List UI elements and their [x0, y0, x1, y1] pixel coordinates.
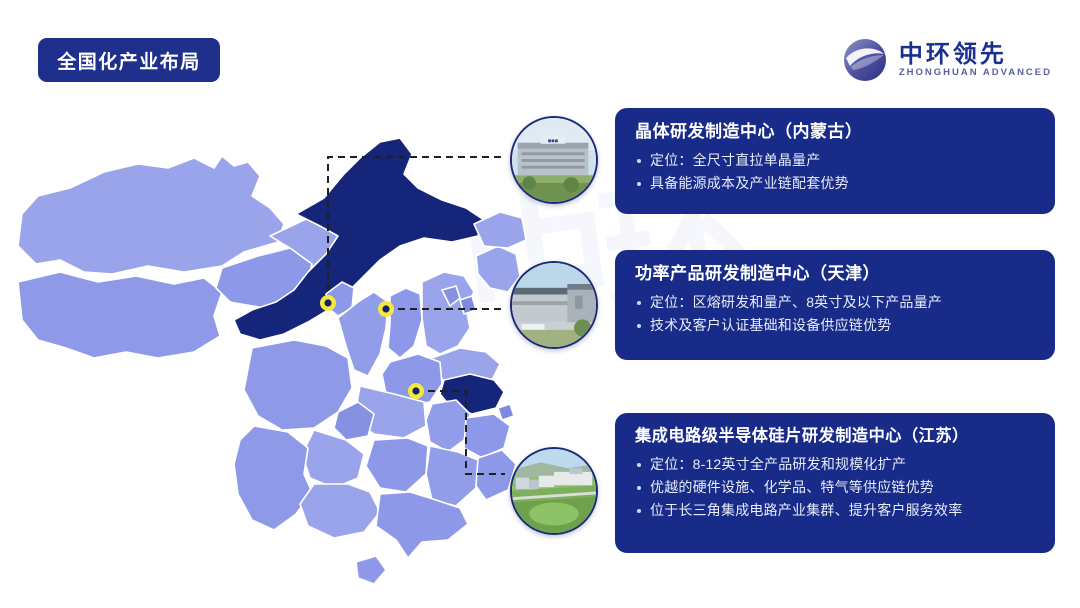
list-item: 定位：全尺寸直拉单晶量产: [635, 149, 1037, 172]
card-bullets: 定位：区熔研发和量产、8英寸及以下产品量产 技术及客户认证基础和设备供应链优势: [635, 291, 1037, 336]
list-item: 定位：8-12英寸全产品研发和规模化扩产: [635, 453, 1037, 476]
province-anhui: [426, 400, 470, 452]
card-title: 晶体研发制造中心（内蒙古）: [635, 122, 1037, 142]
province-shanghai: [498, 404, 514, 420]
card-title: 功率产品研发制造中心（天津）: [635, 264, 1037, 284]
card-bullets: 定位：全尺寸直拉单晶量产 具备能源成本及产业链配套优势: [635, 149, 1037, 194]
province-yunnan: [234, 426, 312, 530]
province-hainan: [356, 556, 386, 584]
list-item: 优越的硬件设施、化学品、特气等供应链优势: [635, 476, 1037, 499]
logo-text-cn: 中环领先: [899, 43, 1052, 67]
card-inner-mongolia: 晶体研发制造中心（内蒙古） 定位：全尺寸直拉单晶量产 具备能源成本及产业链配套优…: [615, 108, 1055, 214]
china-map: [8, 96, 528, 596]
brand-logo: 中环领先 ZHONGHUAN ADVANCED: [841, 36, 1052, 84]
list-item: 技术及客户认证基础和设备供应链优势: [635, 314, 1037, 337]
province-hunan: [366, 438, 428, 492]
province-sichuan: [244, 340, 352, 430]
province-xinjiang: [18, 156, 284, 274]
photo-inner-mongolia-plant: ■■■: [510, 116, 598, 204]
slide-root: 中环 全国化产业布局 中环领先 ZHONGHUAN ADVANC: [0, 0, 1080, 608]
province-jilin: [474, 212, 526, 248]
photo-jiangsu-plant: [510, 447, 598, 535]
photo-tianjin-plant: [510, 261, 598, 349]
province-tibet: [18, 272, 222, 358]
province-guangxi: [300, 484, 380, 538]
swoosh-circle-icon: [841, 36, 889, 84]
province-jiangxi: [426, 446, 478, 506]
card-jiangsu: 集成电路级半导体硅片研发制造中心（江苏） 定位：8-12英寸全产品研发和规模化扩…: [615, 413, 1055, 553]
province-shanxi: [388, 288, 422, 358]
list-item: 位于长三角集成电路产业集群、提升客户服务效率: [635, 499, 1037, 522]
page-title: 全国化产业布局: [57, 47, 201, 74]
list-item: 定位：区熔研发和量产、8英寸及以下产品量产: [635, 291, 1037, 314]
card-title: 集成电路级半导体硅片研发制造中心（江苏）: [635, 427, 1037, 446]
card-tianjin: 功率产品研发制造中心（天津） 定位：区熔研发和量产、8英寸及以下产品量产 技术及…: [615, 250, 1055, 360]
page-title-badge: 全国化产业布局: [38, 38, 220, 82]
card-bullets: 定位：8-12英寸全产品研发和规模化扩产 优越的硬件设施、化学品、特气等供应链优…: [635, 453, 1037, 521]
logo-text-en: ZHONGHUAN ADVANCED: [899, 68, 1052, 78]
list-item: 具备能源成本及产业链配套优势: [635, 172, 1037, 195]
svg-text:■■■: ■■■: [548, 138, 559, 144]
province-tianjin: [460, 296, 476, 314]
